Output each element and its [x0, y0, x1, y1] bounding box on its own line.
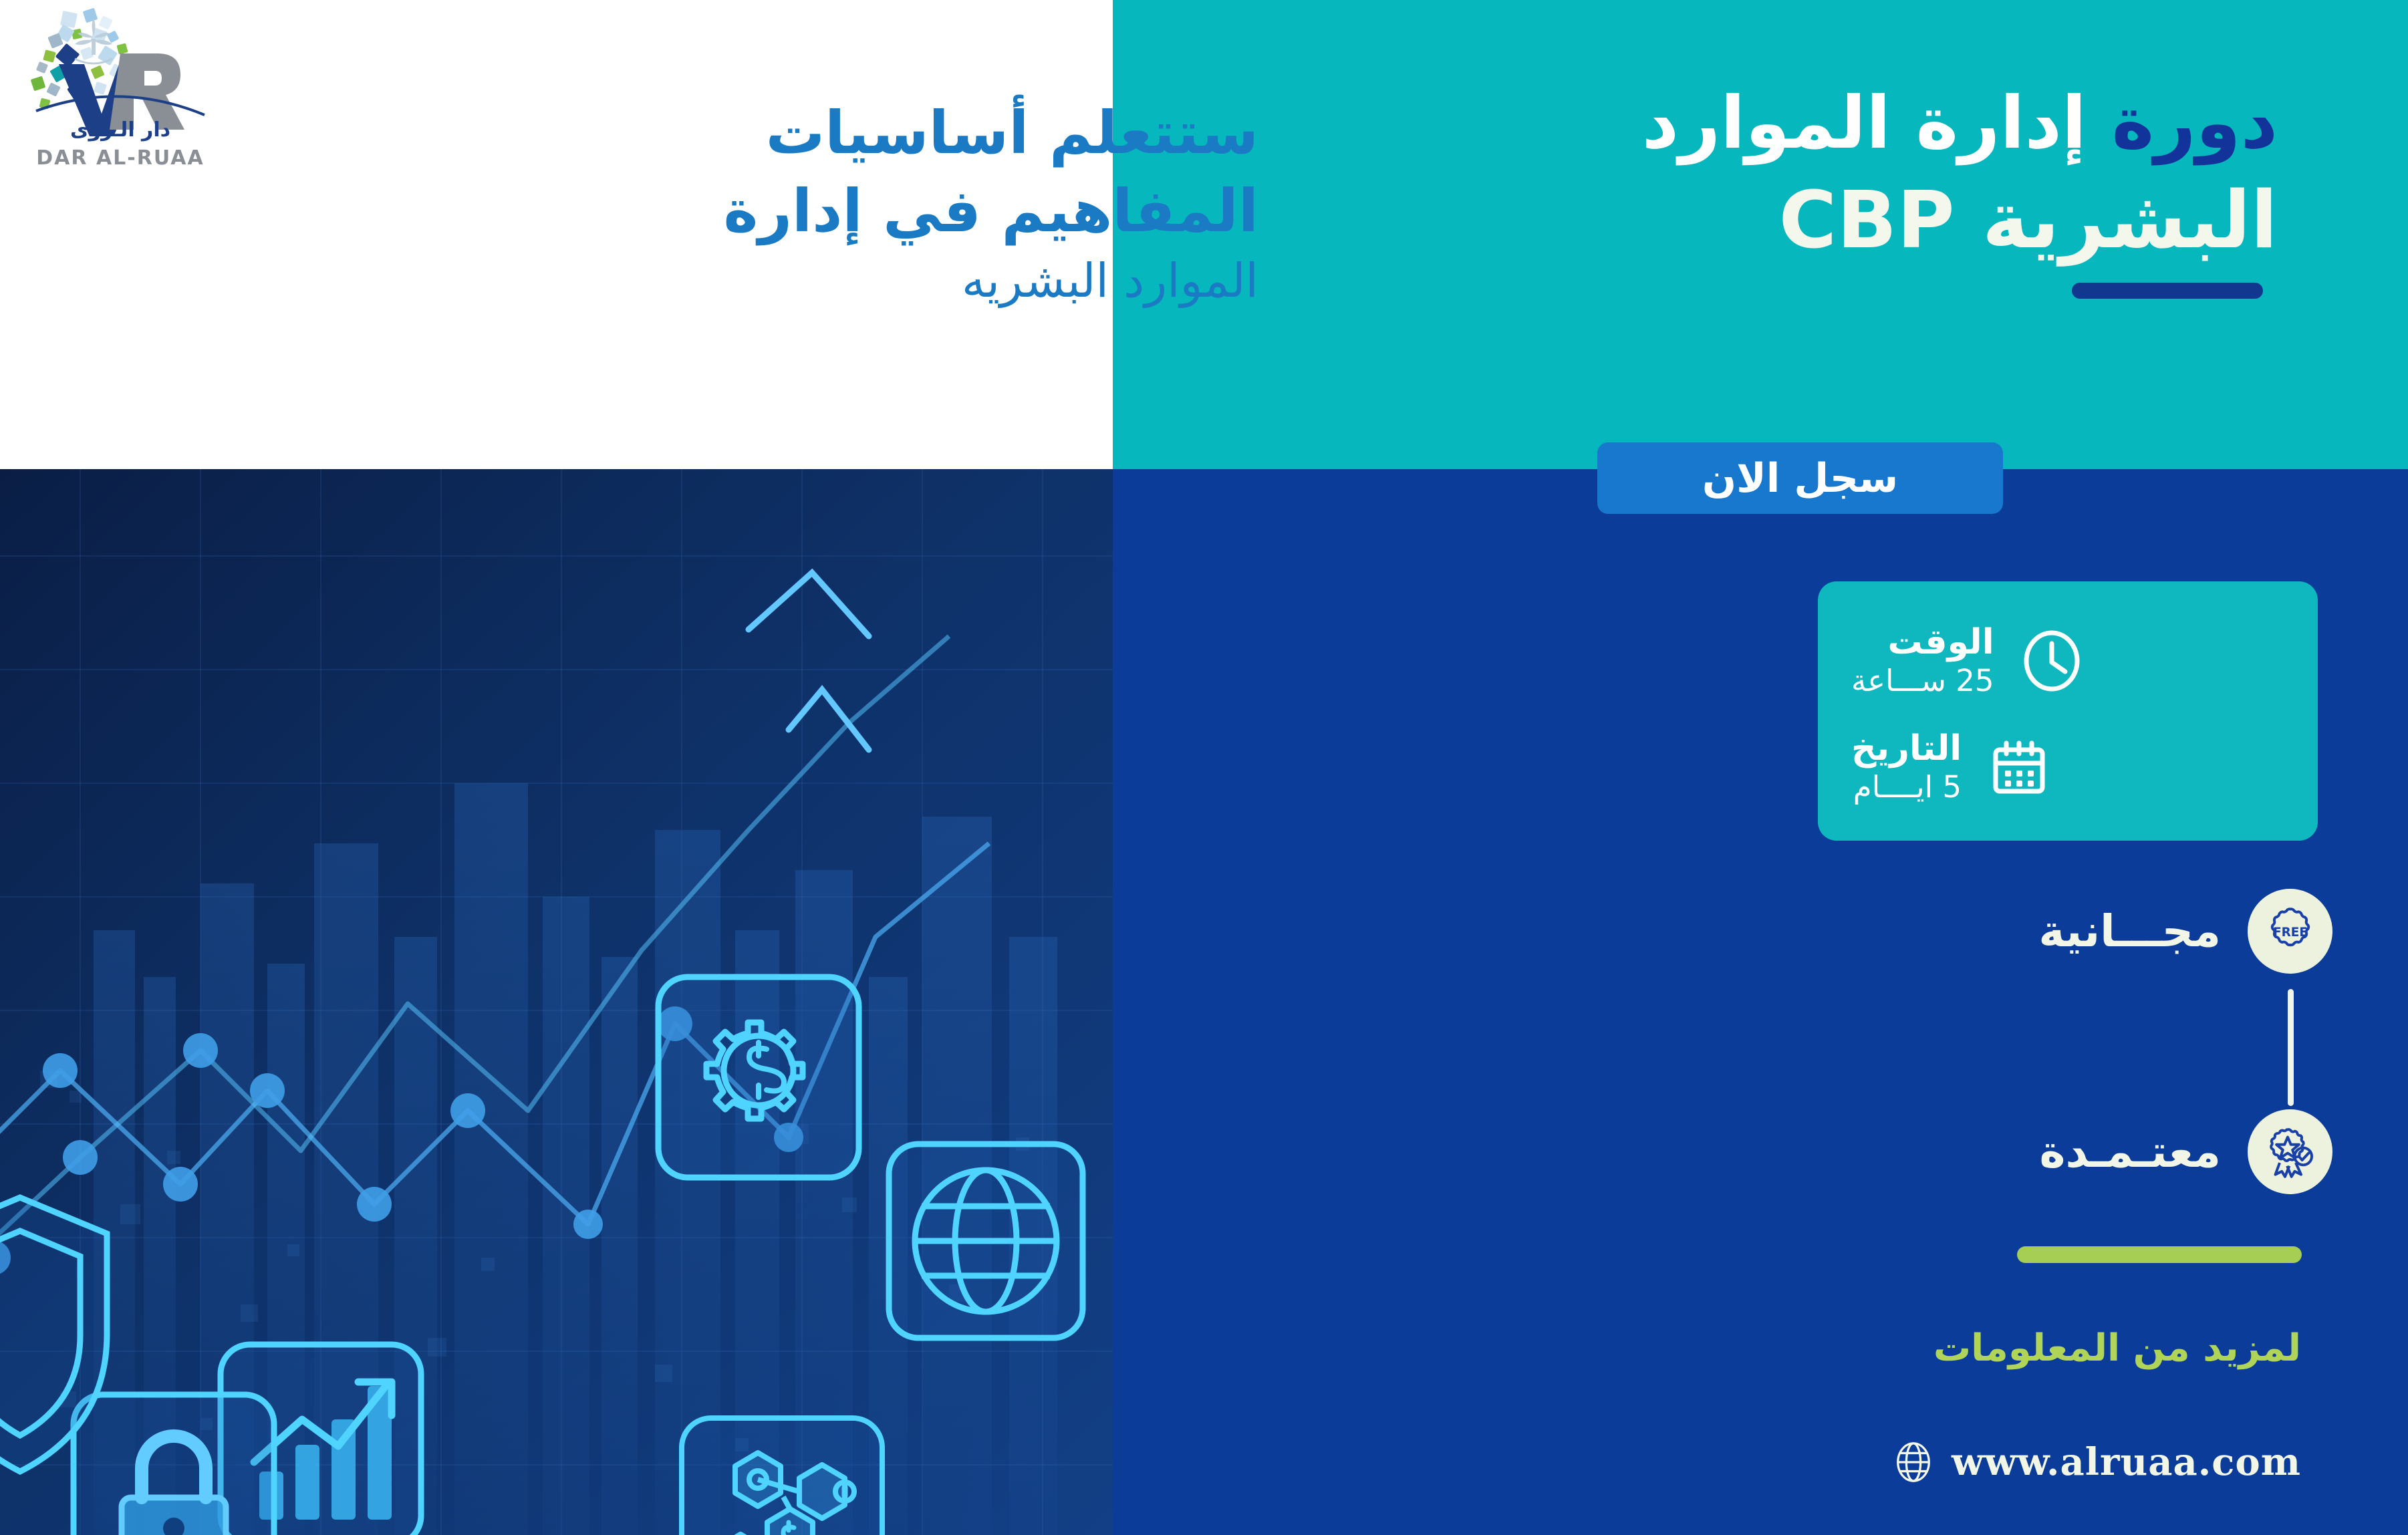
calendar-icon [1986, 734, 2052, 801]
date-value: 5 ايــــام [1851, 770, 1962, 805]
info-text-time: الوقت 25 ســـاعة [1851, 624, 1994, 698]
svg-text:DAR AL-RUAA: DAR AL-RUAA [36, 146, 204, 170]
certified-award-icon [2248, 1109, 2332, 1194]
time-value: 25 ســـاعة [1851, 664, 1994, 698]
feature-certified: معتـمـدة [2039, 1109, 2332, 1194]
info-row-time: الوقت 25 ســـاعة [1851, 624, 2288, 698]
feature-free: FREE مجـــانية [2038, 889, 2332, 974]
course-title-block: دورة إدارة الموارد البشرية CBP [1113, 80, 2408, 301]
free-badge-icon: FREE [2248, 889, 2332, 974]
date-label: التاريخ [1851, 730, 1962, 767]
website-url: www.alruaa.com [1952, 1440, 2301, 1484]
tech-illustration-panel [0, 469, 1113, 1535]
feature-free-label: مجـــانية [2038, 905, 2221, 957]
tech-background-image [0, 469, 1113, 1535]
course-title-accent: دورة [2112, 82, 2278, 165]
green-divider [2017, 1246, 2302, 1263]
more-info-label: لمزيد من المعلومات [1113, 1327, 2408, 1370]
svg-text:دار الـرؤى: دار الـرؤى [70, 118, 170, 142]
course-info-card: الوقت 25 ســـاعة [1818, 581, 2318, 841]
course-title-line-1: دورة إدارة الموارد [1113, 80, 2278, 167]
badge-connector-line [2288, 989, 2294, 1106]
title-underline [2072, 283, 2263, 299]
info-row-date: التاريخ 5 ايــــام [1851, 730, 2288, 805]
register-now-button[interactable]: سجل الان [1597, 442, 2003, 514]
clock-icon [2018, 627, 2085, 694]
course-title-rest: إدارة الموارد [1642, 82, 2087, 165]
globe-icon [1893, 1441, 1934, 1483]
info-text-date: التاريخ 5 ايــــام [1851, 730, 1962, 805]
course-title-line-2: البشرية CBP [1113, 175, 2278, 266]
time-label: الوقت [1851, 624, 1994, 661]
feature-badges: FREE مجـــانية معتـمـدة [1804, 889, 2332, 1230]
website-link[interactable]: www.alruaa.com [1113, 1440, 2408, 1484]
feature-certified-label: معتـمـدة [2039, 1126, 2221, 1177]
dar-al-ruaa-logo[interactable]: دار الـرؤى DAR AL-RUAA [20, 5, 221, 192]
svg-text:FREE: FREE [2273, 926, 2308, 940]
course-promo-poster: دار الـرؤى DAR AL-RUAA ستتعلم أساسيات ال… [0, 0, 2408, 1535]
